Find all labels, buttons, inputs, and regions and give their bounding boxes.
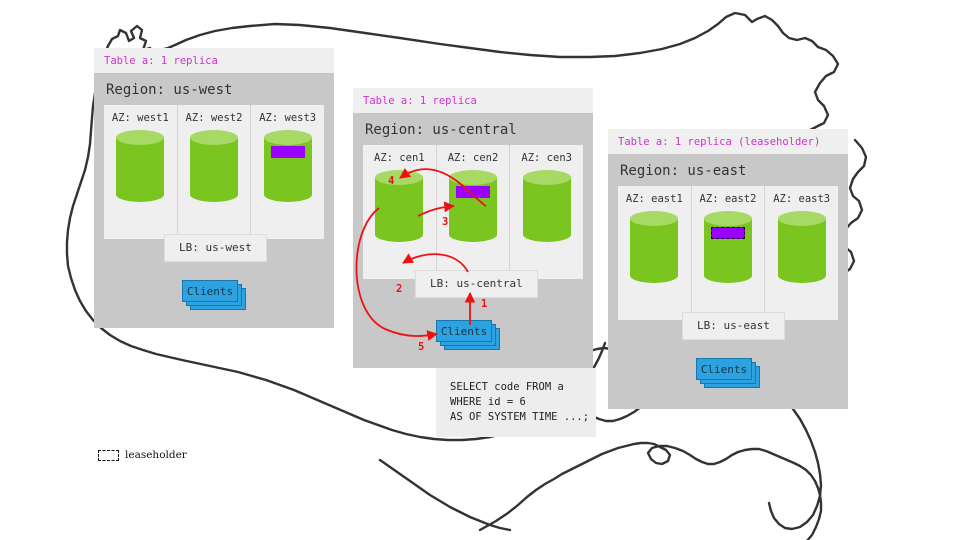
cylinder-body [523,177,571,235]
cylinder-cen3 [523,170,571,242]
az-cen2[interactable]: AZ: cen2 [437,145,511,279]
cylinder-top [116,130,164,145]
az-cen3[interactable]: AZ: cen3 [510,145,583,279]
node-west3[interactable] [264,130,312,202]
az-label-west1: AZ: west1 [108,112,173,124]
replica-east2-leaseholder[interactable] [711,227,745,239]
cylinder-body [116,137,164,195]
cylinder-east1 [630,211,678,283]
diagram-canvas: Table a: 1 replica Region: us-west AZ: w… [0,0,960,540]
flow-step-number-3: 3 [442,216,448,228]
az-label-cen1: AZ: cen1 [367,152,432,164]
node-cen2[interactable] [449,170,497,242]
cylinder-body [190,137,238,195]
cylinder-body [630,218,678,276]
az-label-west3: AZ: west3 [255,112,320,124]
region-us-east: Table a: 1 replica (leaseholder) Region:… [608,129,848,409]
cylinder-top [704,211,752,226]
sql-query-note: SELECT code FROM a WHERE id = 6 AS OF SY… [436,368,596,437]
az-row-us-central: AZ: cen1 AZ: cen2 [363,145,583,279]
flow-step-number-1: 1 [481,298,487,310]
cylinder-west2 [190,130,238,202]
region-title-us-central: Region: us-central [353,113,593,145]
az-west1[interactable]: AZ: west1 [104,105,178,239]
node-west1[interactable] [116,130,164,202]
cylinder-top [523,170,571,185]
az-row-us-west: AZ: west1 AZ: west2 [104,105,324,239]
clients-us-central[interactable]: Clients [436,320,502,350]
cylinder-cen1 [375,170,423,242]
region-header-us-west: Table a: 1 replica [94,48,334,73]
node-east1[interactable] [630,211,678,283]
clients-us-east[interactable]: Clients [696,358,762,388]
region-us-central: Table a: 1 replica Region: us-central AZ… [353,88,593,368]
flow-step-number-2: 2 [396,283,402,295]
az-east3[interactable]: AZ: east3 [765,186,838,320]
node-cen3[interactable] [523,170,571,242]
cylinder-top [375,170,423,185]
az-label-cen3: AZ: cen3 [514,152,579,164]
clients-label-us-east: Clients [696,358,752,380]
load-balancer-us-central[interactable]: LB: us-central [415,270,538,298]
cylinder-east3 [778,211,826,283]
clients-label-us-central: Clients [436,320,492,342]
az-east2[interactable]: AZ: east2 [692,186,766,320]
clients-us-west[interactable]: Clients [182,280,248,310]
az-label-east2: AZ: east2 [696,193,761,205]
dashed-rect-swatch [98,450,119,461]
az-cen1[interactable]: AZ: cen1 [363,145,437,279]
replica-west3[interactable] [271,146,305,158]
region-us-west: Table a: 1 replica Region: us-west AZ: w… [94,48,334,328]
flow-step-number-4: 4 [388,175,394,187]
load-balancer-us-east[interactable]: LB: us-east [682,312,785,340]
az-label-west2: AZ: west2 [182,112,247,124]
cylinder-west1 [116,130,164,202]
cylinder-body [375,177,423,235]
node-cen1[interactable] [375,170,423,242]
cylinder-west3 [264,130,312,202]
az-west2[interactable]: AZ: west2 [178,105,252,239]
az-row-us-east: AZ: east1 AZ: east2 [618,186,838,320]
replica-cen2[interactable] [456,186,490,198]
node-east3[interactable] [778,211,826,283]
az-label-cen2: AZ: cen2 [441,152,506,164]
cylinder-top [449,170,497,185]
region-title-us-west: Region: us-west [94,73,334,105]
az-label-east1: AZ: east1 [622,193,687,205]
legend-label: leaseholder [125,449,187,461]
cylinder-top [630,211,678,226]
region-title-us-east: Region: us-east [608,154,848,186]
az-east1[interactable]: AZ: east1 [618,186,692,320]
node-east2[interactable] [704,211,752,283]
cylinder-cen2 [449,170,497,242]
legend: leaseholder [98,449,187,461]
region-header-us-east: Table a: 1 replica (leaseholder) [608,129,848,154]
az-label-east3: AZ: east3 [769,193,834,205]
cylinder-east2 [704,211,752,283]
flow-step-number-5: 5 [418,341,424,353]
cylinder-body [778,218,826,276]
clients-label-us-west: Clients [182,280,238,302]
load-balancer-us-west[interactable]: LB: us-west [164,234,267,262]
node-west2[interactable] [190,130,238,202]
cylinder-top [264,130,312,145]
cylinder-top [778,211,826,226]
az-west3[interactable]: AZ: west3 [251,105,324,239]
cylinder-top [190,130,238,145]
region-header-us-central: Table a: 1 replica [353,88,593,113]
